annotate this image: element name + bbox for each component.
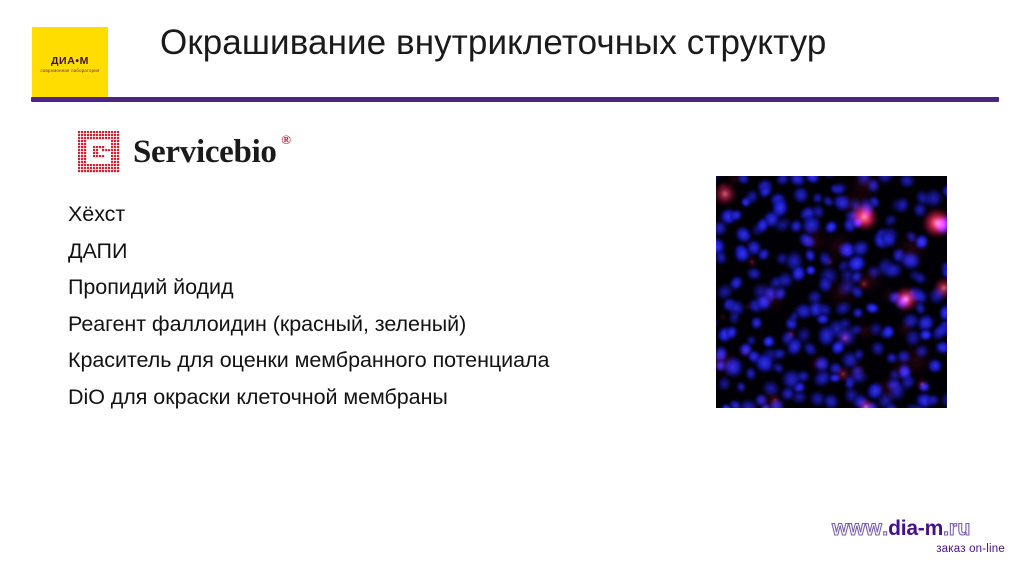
list-item: Реагент фаллоидин (красный, зеленый)	[68, 306, 708, 343]
servicebio-wordmark-text: Servicebio	[133, 134, 277, 170]
slide-header: ДИА•М современная лаборатория Окрашивани…	[0, 0, 1024, 110]
dia-m-footer-logo[interactable]: www.dia-m.ru заказ on-line	[832, 516, 1007, 564]
servicebio-logo: Servicebio®	[78, 130, 277, 174]
footer-url-core: dia-m	[888, 517, 943, 540]
servicebio-wordmark: Servicebio®	[133, 136, 277, 169]
page-title: Окрашивание внутриклеточных структур	[160, 22, 1010, 64]
footer-tagline: заказ on-line	[936, 543, 1005, 555]
micrograph-canvas	[716, 176, 947, 408]
fluorescence-micrograph-image	[716, 176, 947, 408]
diam-logo-name: ДИА•М	[32, 56, 108, 67]
diam-logo: ДИА•М современная лаборатория	[32, 27, 108, 97]
footer-url-prefix: www	[832, 517, 882, 540]
list-item: Пропидий йодид	[68, 269, 708, 306]
registered-trademark-icon: ®	[281, 133, 290, 146]
list-item: DiO для окраски клеточной мембраны	[68, 379, 708, 416]
footer-website-url[interactable]: www.dia-m.ru	[832, 516, 971, 542]
stain-list: Хёхст ДАПИ Пропидий йодид Реагент фаллои…	[68, 196, 708, 415]
servicebio-pixel-g-icon	[78, 131, 120, 173]
list-item: Краситель для оценки мембранного потенци…	[68, 342, 708, 379]
header-divider	[31, 97, 999, 102]
diam-logo-mark: ДИА•М современная лаборатория	[32, 56, 108, 73]
footer-url-tld: ru	[949, 517, 971, 540]
list-item: Хёхст	[68, 196, 708, 233]
list-item: ДАПИ	[68, 233, 708, 270]
diam-logo-tagline: современная лаборатория	[31, 69, 109, 73]
